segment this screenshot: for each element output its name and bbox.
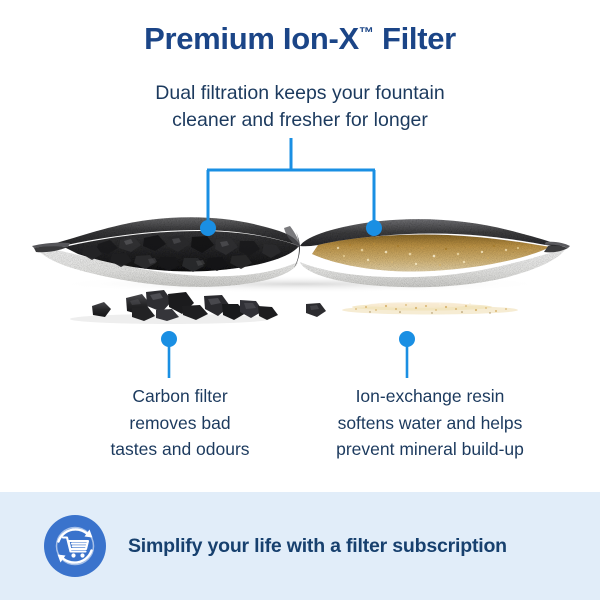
caption-carbon-line1: Carbon filter <box>60 383 300 410</box>
resin-granules-group <box>342 302 518 314</box>
caption-resin-line3: prevent mineral build-up <box>290 436 570 463</box>
caption-carbon-line3: tastes and odours <box>60 436 300 463</box>
loose-granules-image <box>70 282 530 326</box>
page-subtitle: Dual filtration keeps your fountain clea… <box>0 80 600 134</box>
caption-resin-line1: Ion-exchange resin <box>290 383 570 410</box>
subscription-banner[interactable]: Simplify your life with a filter subscri… <box>0 492 600 600</box>
resin-granules-marker <box>399 331 415 347</box>
caption-ion-exchange-resin: Ion-exchange resin softens water and hel… <box>290 383 570 463</box>
subscription-banner-text: Simplify your life with a filter subscri… <box>128 535 507 558</box>
subscription-cart-icon <box>44 515 106 577</box>
filter-infographic: Premium Ion-X™ Filter Dual filtration ke… <box>0 0 600 600</box>
caption-carbon-line2: removes bad <box>60 410 300 437</box>
page-subtitle-line2: cleaner and fresher for longer <box>0 107 600 134</box>
page-title: Premium Ion-X™ Filter <box>0 22 600 56</box>
caption-resin-line2: softens water and helps <box>290 410 570 437</box>
carbon-chamber-layer <box>32 217 300 287</box>
caption-carbon-filter: Carbon filter removes bad tastes and odo… <box>60 383 300 463</box>
page-subtitle-line1: Dual filtration keeps your fountain <box>0 80 600 107</box>
filter-cross-section-image <box>28 196 572 296</box>
resin-chamber-layer <box>300 219 570 287</box>
trademark-symbol: ™ <box>359 25 374 42</box>
page-title-prefix: Premium Ion-X <box>144 21 359 56</box>
page-title-suffix: Filter <box>374 21 456 56</box>
carbon-granules-marker <box>161 331 177 347</box>
